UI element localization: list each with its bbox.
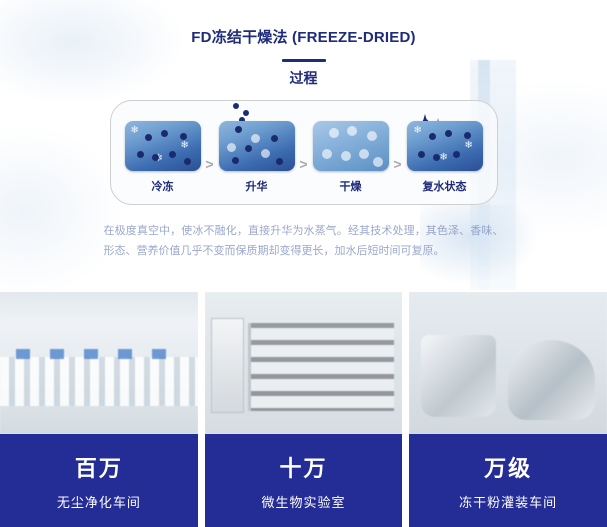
facility-grade: 十万 bbox=[280, 451, 328, 483]
vapor-dot bbox=[329, 128, 339, 138]
snowflake-icon: ❄ bbox=[440, 153, 448, 163]
vapor-dot bbox=[341, 151, 351, 161]
snowflake-icon: ❄ bbox=[414, 126, 422, 136]
vial-sublimation-icon bbox=[219, 121, 295, 171]
vial-rehydration-icon: ❄ ❄ ❄ bbox=[407, 121, 483, 171]
particle-dot bbox=[453, 151, 460, 158]
particle-dot bbox=[245, 145, 252, 152]
process-step-sublimation: 升华 bbox=[217, 101, 297, 194]
particle-dot bbox=[180, 133, 187, 140]
facility-name: 无尘净化车间 bbox=[57, 492, 141, 511]
cleanroom-photo bbox=[0, 292, 198, 434]
vapor-dot bbox=[322, 149, 332, 159]
escaping-particle bbox=[233, 103, 239, 109]
escaping-particle bbox=[243, 110, 249, 116]
facility-grade: 万级 bbox=[484, 451, 532, 483]
process-step-label: 升华 bbox=[246, 178, 268, 194]
snowflake-icon: ❄ bbox=[465, 141, 473, 151]
facility-card-label: 百万 无尘净化车间 bbox=[0, 434, 198, 527]
vial-drying-icon bbox=[313, 121, 389, 171]
process-arrow-icon: > bbox=[297, 156, 311, 172]
vapor-dot bbox=[373, 157, 383, 167]
process-panel: ❄ ❄ ❄ 冷冻 > bbox=[110, 100, 498, 205]
facility-name: 冻干粉灌装车间 bbox=[459, 492, 557, 511]
laboratory-photo bbox=[205, 292, 403, 434]
vapor-dot bbox=[347, 126, 357, 136]
process-step-rehydration: ❄ ❄ ❄ 复水状态 bbox=[405, 101, 485, 194]
particle-dot bbox=[429, 133, 436, 140]
particle-dot bbox=[433, 154, 440, 161]
facility-card[interactable]: 十万 微生物实验室 bbox=[205, 292, 403, 527]
particle-dot bbox=[418, 151, 425, 158]
process-step-label: 复水状态 bbox=[423, 178, 467, 194]
snowflake-icon: ❄ bbox=[131, 126, 139, 136]
facility-card-list: 百万 无尘净化车间 十万 微生物实验室 万级 冻干粉灌装车间 bbox=[0, 292, 607, 527]
process-arrow-icon: > bbox=[391, 156, 405, 172]
vapor-dot bbox=[227, 143, 236, 152]
particle-dot bbox=[152, 154, 159, 161]
process-step-label: 干燥 bbox=[340, 178, 362, 194]
particle-dot bbox=[232, 157, 239, 164]
facility-card[interactable]: 百万 无尘净化车间 bbox=[0, 292, 198, 527]
particle-dot bbox=[445, 130, 452, 137]
title-divider bbox=[282, 59, 326, 62]
facility-card-label: 万级 冻干粉灌装车间 bbox=[409, 434, 607, 527]
facility-grade: 百万 bbox=[75, 451, 123, 483]
particle-dot bbox=[161, 130, 168, 137]
vapor-dot bbox=[251, 134, 260, 143]
snowflake-icon: ❄ bbox=[181, 141, 189, 151]
particle-dot bbox=[464, 132, 471, 139]
particle-dot bbox=[276, 158, 283, 165]
page-title: FD冻结干燥法 (FREEZE-DRIED) bbox=[0, 26, 607, 47]
process-step-freeze: ❄ ❄ ❄ 冷冻 bbox=[123, 101, 203, 194]
section-subtitle: 过程 bbox=[0, 68, 607, 88]
facility-card[interactable]: 万级 冻干粉灌装车间 bbox=[409, 292, 607, 527]
particle-dot bbox=[145, 134, 152, 141]
filling-workshop-photo bbox=[409, 292, 607, 434]
header: FD冻结干燥法 (FREEZE-DRIED) 过程 bbox=[0, 0, 607, 88]
facility-card-label: 十万 微生物实验室 bbox=[205, 434, 403, 527]
process-steps: ❄ ❄ ❄ 冷冻 > bbox=[111, 101, 497, 204]
vapor-dot bbox=[359, 149, 369, 159]
process-description: 在极度真空中，使冰不融化，直接升华为水蒸气。经其技术处理，其色泽、香味、形态、营… bbox=[104, 221, 504, 261]
process-step-label: 冷冻 bbox=[152, 178, 174, 194]
vapor-dot bbox=[261, 149, 270, 158]
particle-dot bbox=[271, 135, 278, 142]
particle-dot bbox=[169, 151, 176, 158]
particle-dot bbox=[137, 151, 144, 158]
particle-dot bbox=[184, 158, 191, 165]
particle-dot bbox=[235, 126, 242, 133]
process-arrow-icon: > bbox=[203, 156, 217, 172]
facility-name: 微生物实验室 bbox=[262, 492, 346, 511]
process-step-drying: 干燥 bbox=[311, 101, 391, 194]
vapor-dot bbox=[367, 131, 377, 141]
vial-freeze-icon: ❄ ❄ ❄ bbox=[125, 121, 201, 171]
